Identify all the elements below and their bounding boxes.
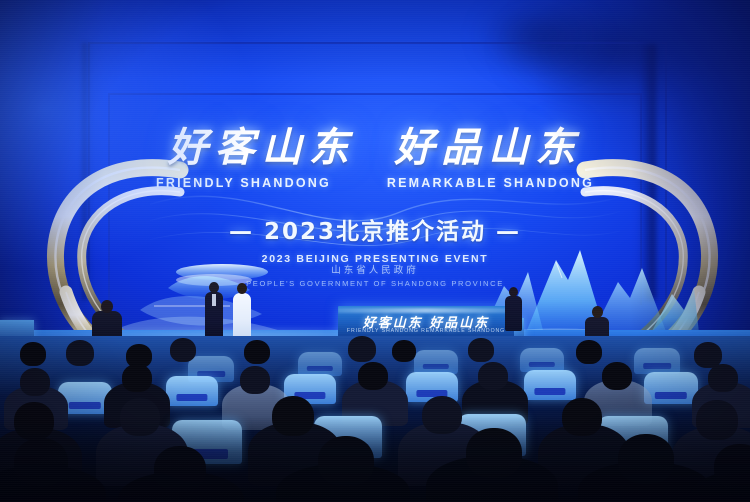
female-host-head [237, 283, 247, 294]
list-item [708, 364, 738, 392]
stage-frame-shadow-right [640, 44, 656, 300]
list-item [466, 428, 522, 478]
male-host [204, 282, 224, 342]
speaker-at-lectern [505, 287, 523, 331]
list-item [524, 370, 576, 400]
list-item [392, 340, 416, 362]
list-item [576, 340, 602, 364]
stage-frame-shadow-left [82, 42, 91, 300]
list-item [244, 340, 270, 364]
list-item [154, 446, 206, 492]
podium-banner: 好客山东 好品山东 FRIENDLY SHANDONG REMARKABLE S… [338, 306, 514, 340]
list-item [348, 336, 376, 362]
speaker-head [509, 287, 518, 297]
podium-banner-en: FRIENDLY SHANDONG REMARKABLE SHANDONG [338, 328, 514, 334]
list-item [272, 396, 314, 436]
standing-attendant-head [592, 306, 603, 318]
list-item [696, 400, 738, 440]
speaker-body [505, 296, 522, 331]
list-item [14, 438, 68, 486]
list-item [414, 350, 458, 374]
audience-area [0, 336, 750, 502]
list-item [20, 342, 46, 366]
list-item [468, 338, 494, 362]
list-item [478, 362, 508, 390]
male-host-shirt [212, 294, 216, 306]
list-item [170, 338, 196, 362]
list-item [66, 340, 94, 366]
female-host [231, 283, 253, 342]
list-item [602, 362, 632, 390]
flowing-light-lines-icon [150, 150, 620, 270]
list-item [122, 364, 152, 392]
list-item [20, 368, 50, 396]
list-item [618, 434, 674, 484]
stage-photograph: 好客山东 好品山东 FRIENDLY SHANDONG REMARKABLE S… [0, 0, 750, 502]
list-item [166, 376, 218, 406]
list-item [358, 362, 388, 390]
list-item [634, 348, 680, 374]
figure-stage-left-head [101, 300, 113, 313]
list-item [298, 352, 342, 376]
list-item [240, 366, 270, 394]
list-item [644, 372, 698, 404]
list-item [422, 396, 462, 434]
list-item [520, 348, 564, 372]
list-item [14, 402, 54, 440]
male-host-head [209, 282, 219, 293]
list-item [120, 398, 160, 436]
list-item [562, 398, 602, 436]
list-item [714, 444, 750, 490]
female-host-dress [233, 293, 251, 342]
list-item [318, 436, 374, 486]
